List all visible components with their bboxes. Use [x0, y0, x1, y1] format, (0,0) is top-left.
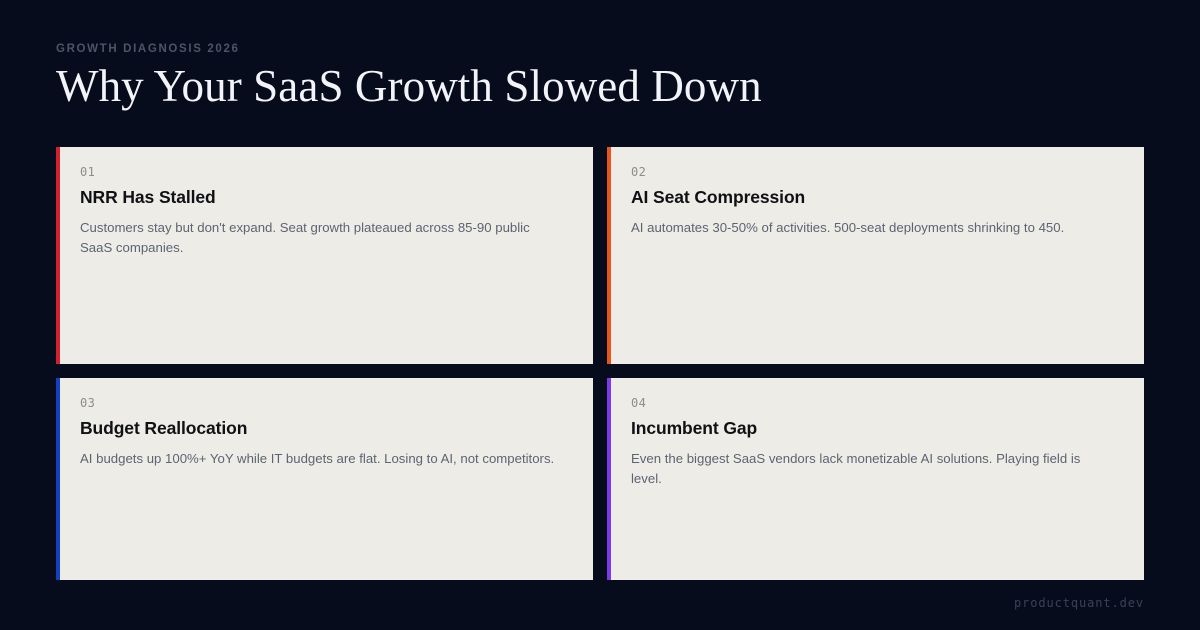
card-number: 04: [631, 397, 1120, 409]
card-title: AI Seat Compression: [631, 187, 1120, 208]
page-title: Why Your SaaS Growth Slowed Down: [56, 60, 762, 113]
card-number: 02: [631, 166, 1120, 178]
card-ai-seat-compression[interactable]: 02 AI Seat Compression AI automates 30-5…: [607, 147, 1144, 364]
card-number: 03: [80, 397, 569, 409]
card-incumbent-gap[interactable]: 04 Incumbent Gap Even the biggest SaaS v…: [607, 378, 1144, 580]
card-body: Customers stay but don't expand. Seat gr…: [80, 218, 562, 258]
accent-bar-icon: [56, 378, 60, 580]
card-body: Even the biggest SaaS vendors lack monet…: [631, 449, 1113, 489]
card-grid: 01 NRR Has Stalled Customers stay but do…: [56, 147, 1144, 580]
card-budget-reallocation[interactable]: 03 Budget Reallocation AI budgets up 100…: [56, 378, 593, 580]
accent-bar-icon: [56, 147, 60, 364]
card-title: Incumbent Gap: [631, 418, 1120, 439]
accent-bar-icon: [607, 378, 611, 580]
card-title: Budget Reallocation: [80, 418, 569, 439]
eyebrow-label: GROWTH DIAGNOSIS 2026: [56, 44, 762, 56]
card-title: NRR Has Stalled: [80, 187, 569, 208]
footer-attribution: productquant.dev: [1014, 597, 1144, 609]
card-nrr-has-stalled[interactable]: 01 NRR Has Stalled Customers stay but do…: [56, 147, 593, 364]
card-body: AI budgets up 100%+ YoY while IT budgets…: [80, 449, 562, 469]
card-number: 01: [80, 166, 569, 178]
header: GROWTH DIAGNOSIS 2026 Why Your SaaS Grow…: [56, 44, 762, 113]
card-body: AI automates 30-50% of activities. 500-s…: [631, 218, 1113, 238]
accent-bar-icon: [607, 147, 611, 364]
slide-root: GROWTH DIAGNOSIS 2026 Why Your SaaS Grow…: [0, 0, 1200, 630]
